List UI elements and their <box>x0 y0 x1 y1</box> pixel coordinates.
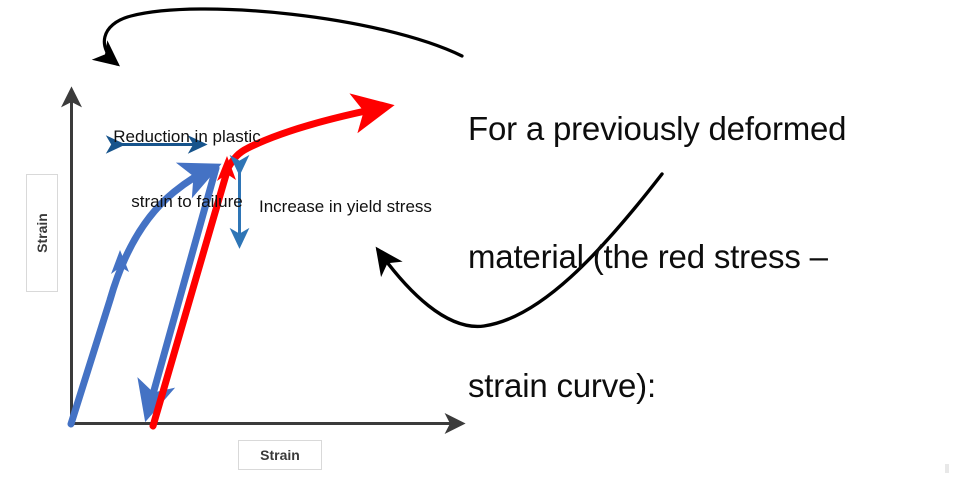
pointer-arrow-to-reduction <box>104 9 462 64</box>
corner-mark <box>945 464 949 473</box>
slide-canvas: Reduction in plastic strain to failure I… <box>0 0 959 482</box>
x-axis-label-box: Strain <box>238 440 322 470</box>
annotation-reduction-line1: Reduction in plastic <box>82 126 292 148</box>
annotation-reduction-in-plastic-strain: Reduction in plastic strain to failure <box>82 82 292 256</box>
y-axis-label-text: Strain <box>34 213 50 253</box>
body-text-line-1: For a previously deformed <box>468 108 948 151</box>
x-axis-label-text: Strain <box>260 447 300 463</box>
body-text-line-3: strain curve): <box>468 365 948 408</box>
body-text-line-2: material (the red stress – <box>468 236 948 279</box>
annotation-increase-in-yield-stress: Increase in yield stress <box>259 197 432 217</box>
body-text-block: For a previously deformed material (the … <box>468 22 948 482</box>
y-axis-label-box: Strain <box>26 174 58 292</box>
